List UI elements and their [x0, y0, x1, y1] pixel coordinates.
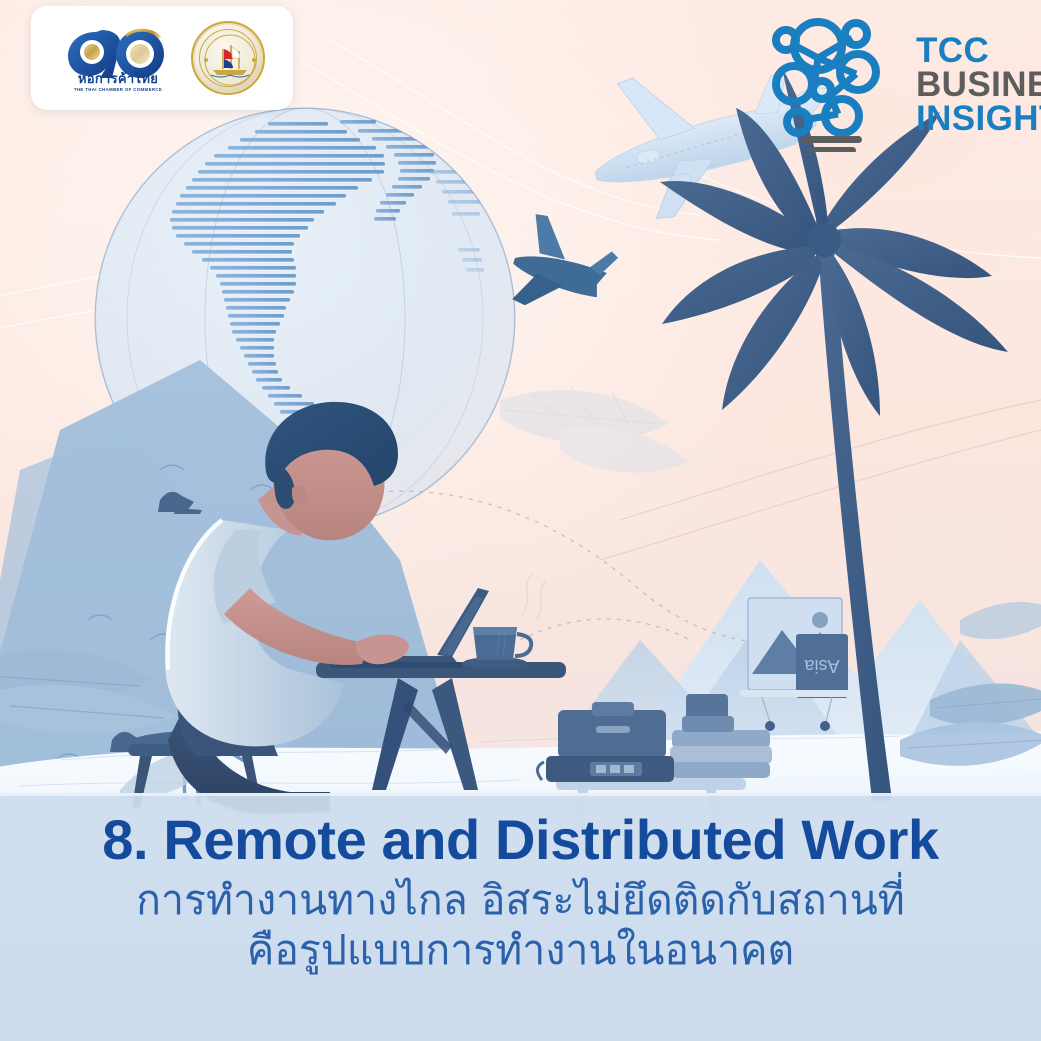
board-of-trade-seal	[191, 21, 265, 95]
airplane-small	[502, 210, 624, 328]
poster-canvas: Asia	[0, 0, 1041, 1041]
subtitle-line-2: คือรูปแบบการทำงานในอนาคต	[247, 924, 794, 976]
page-title: 8. Remote and Distributed Work	[102, 811, 938, 870]
network-nodes-lightbulb-icon	[752, 12, 902, 152]
tcc-logo-line2: BUSINESS	[916, 68, 1041, 102]
coffee-mug	[463, 574, 546, 669]
background-feather-leaves	[500, 386, 690, 473]
tcc-logo-line3: INSIGHT	[916, 102, 1041, 136]
seal-ship-icon	[193, 23, 267, 97]
tcc-wordmark: TCC BUSINESS INSIGHT	[916, 34, 1041, 136]
chamber-english-name: THE THAI CHAMBER OF COMMERCE	[74, 87, 162, 92]
banner-top-edge	[0, 793, 1041, 796]
subtitle-line-1: การทำงานทางไกล อิสระไม่ยึดติดกับสถานที่	[136, 874, 905, 926]
ninety-anniversary-logo: หอการค้าไทย THE THAI CHAMBER OF COMMERCE	[59, 14, 177, 102]
tcc-logo-line1: TCC	[916, 34, 1041, 68]
svg-text:Asia: Asia	[804, 656, 840, 676]
chamber-thai-name: หอการค้าไทย	[74, 72, 162, 85]
thai-chamber-logo-card: หอการค้าไทย THE THAI CHAMBER OF COMMERCE	[31, 6, 293, 110]
tcc-business-insight-logo: TCC BUSINESS INSIGHT	[752, 12, 1032, 162]
title-banner: 8. Remote and Distributed Work การทำงานท…	[0, 793, 1041, 1041]
